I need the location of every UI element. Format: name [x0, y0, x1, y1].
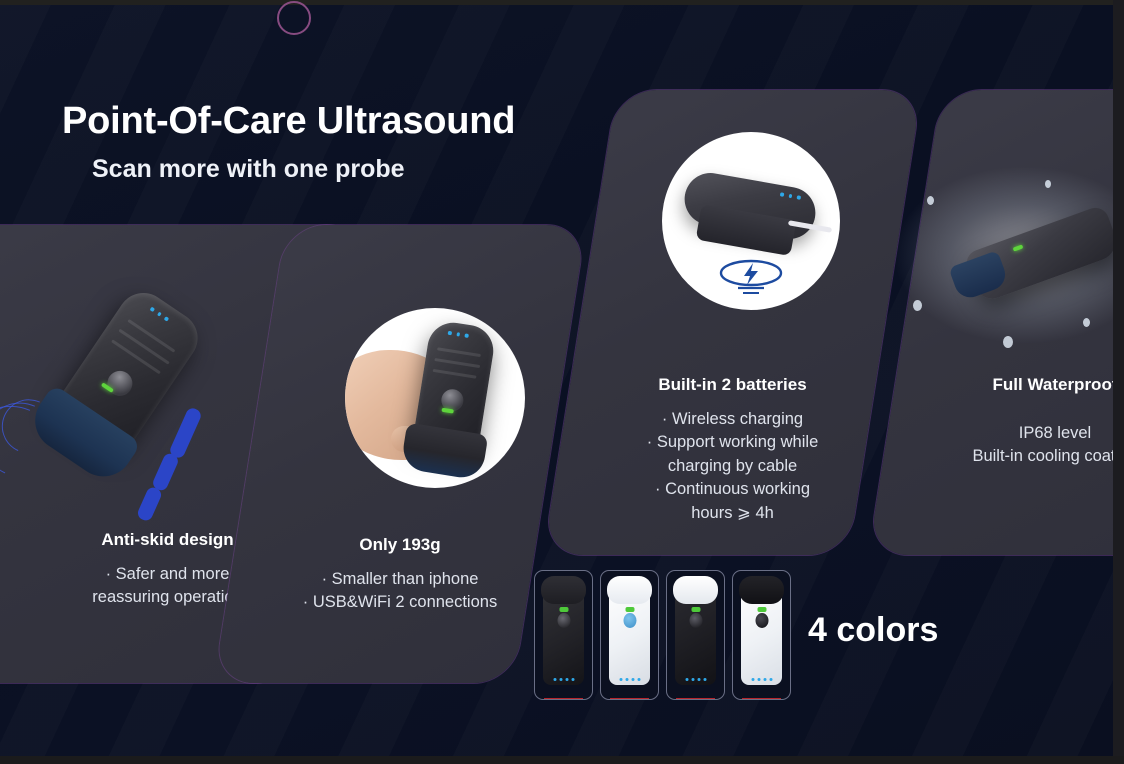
probe-on-wireless-charger-image: [662, 132, 840, 310]
wireless-charging-icon: [714, 257, 788, 297]
weight-text-block: Only 193g · Smaller than iphone · USB&Wi…: [250, 535, 550, 615]
color-swatch-black-top-white-body[interactable]: [732, 570, 791, 700]
card-line: · USB&WiFi 2 connections: [250, 591, 550, 614]
page-title: Point-Of-Care Ultrasound: [62, 101, 682, 143]
colors-count-label: 4 colors: [808, 611, 938, 650]
hand-holding-probe-image: [345, 308, 525, 488]
card-title: Full Waterproof: [905, 375, 1124, 395]
card-line: · Support working while: [580, 431, 885, 454]
card-line: · Wireless charging: [580, 408, 885, 431]
card-line: IP68 level: [905, 422, 1124, 445]
card-title: Only 193g: [250, 535, 550, 555]
card-line: Built-in cooling coating: [905, 445, 1124, 468]
circle-outline-decoration-icon: [277, 1, 311, 35]
color-swatch-black[interactable]: [534, 570, 593, 700]
color-swatch-white-top-black-body[interactable]: [666, 570, 725, 700]
card-line: hours ⩾ 4h: [580, 502, 885, 525]
bottom-edge-strip: [0, 756, 1124, 764]
card-line: charging by cable: [580, 455, 885, 478]
page-subtitle: Scan more with one probe: [92, 155, 682, 184]
right-edge-strip: [1113, 0, 1124, 764]
probe-water-splash-image: [885, 150, 1124, 350]
headline-block: Point-Of-Care Ultrasound Scan more with …: [62, 101, 682, 184]
card-title: Built-in 2 batteries: [580, 375, 885, 395]
card-line: · Smaller than iphone: [250, 568, 550, 591]
color-swatch-white-blue[interactable]: [600, 570, 659, 700]
card-line: · Continuous working: [580, 478, 885, 501]
top-edge-strip: [0, 0, 1124, 5]
color-swatch-strip: [534, 570, 791, 700]
poster-stage: Anti-skid design · Safer and more reassu…: [0, 0, 1124, 764]
feature-card-weight: Only 193g · Smaller than iphone · USB&Wi…: [214, 225, 587, 683]
feature-card-waterproof: Full Waterproof IP68 level Built-in cool…: [868, 90, 1124, 555]
waterproof-text-block: Full Waterproof IP68 level Built-in cool…: [905, 375, 1124, 469]
batteries-text-block: Built-in 2 batteries · Wireless charging…: [580, 375, 885, 525]
